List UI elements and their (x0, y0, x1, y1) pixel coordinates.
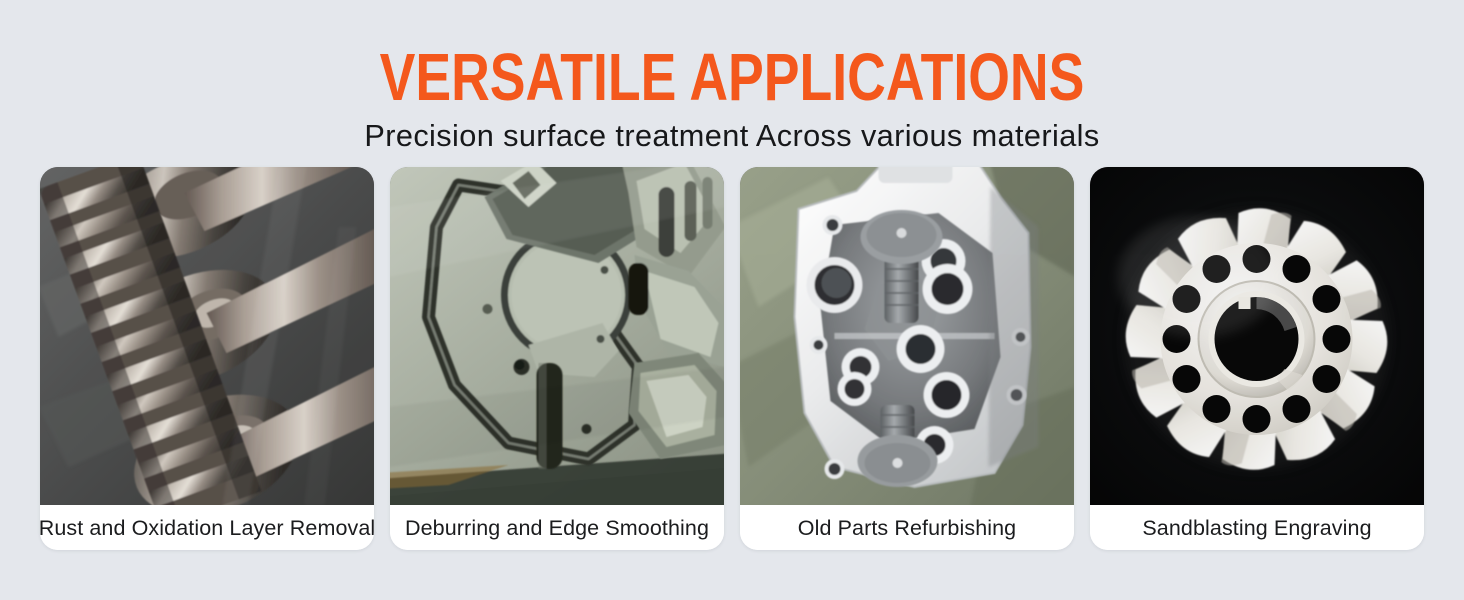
application-card[interactable]: Rust and Oxidation Layer Removal (40, 167, 374, 550)
card-caption: Deburring and Edge Smoothing (390, 505, 724, 550)
impeller-fan-photo (1090, 167, 1424, 505)
cylinder-head-photo (740, 167, 1074, 505)
card-caption: Old Parts Refurbishing (740, 505, 1074, 550)
heading-block: VERSATILE APPLICATIONS Precision surface… (0, 44, 1464, 154)
engine-valves-photo (40, 167, 374, 505)
card-caption: Rust and Oxidation Layer Removal (40, 505, 374, 550)
card-caption: Sandblasting Engraving (1090, 505, 1424, 550)
application-card[interactable]: Deburring and Edge Smoothing (390, 167, 724, 550)
application-card[interactable]: Old Parts Refurbishing (740, 167, 1074, 550)
cnc-machined-part-photo (390, 167, 724, 505)
application-cards-row: Rust and Oxidation Layer Removal (40, 167, 1424, 550)
page-subtitle: Precision surface treatment Across vario… (7, 112, 1456, 154)
page-title: VERSATILE APPLICATIONS (146, 44, 1317, 112)
application-card[interactable]: Sandblasting Engraving (1090, 167, 1424, 550)
versatile-applications-banner: VERSATILE APPLICATIONS Precision surface… (0, 0, 1464, 600)
